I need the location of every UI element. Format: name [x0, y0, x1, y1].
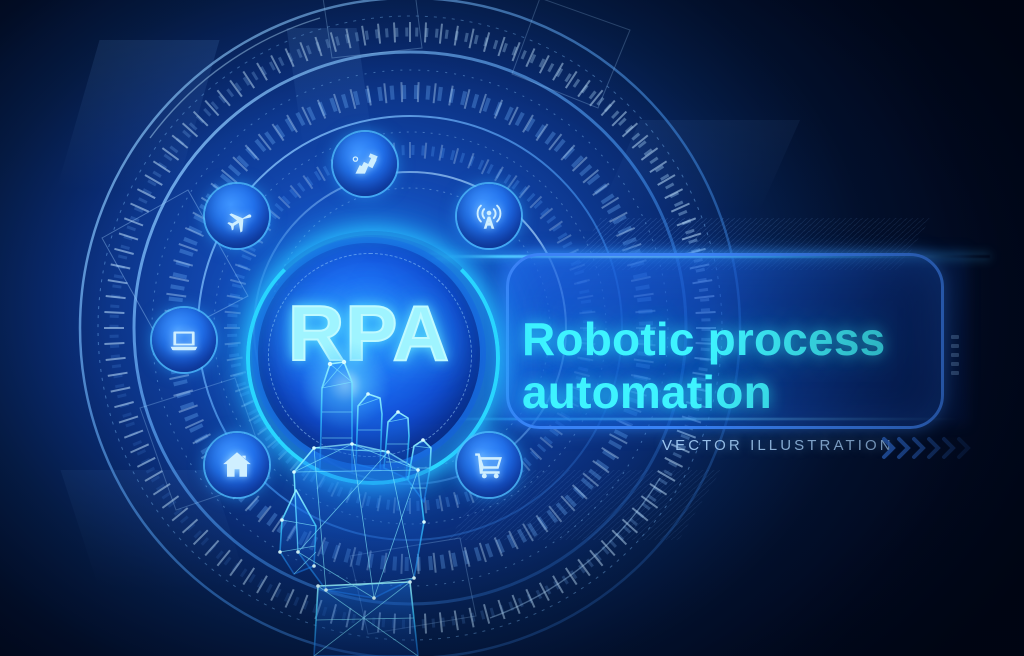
vignette: [0, 0, 1024, 656]
rpa-banner: Robotic process automation VECTOR ILLUST…: [0, 0, 1024, 656]
